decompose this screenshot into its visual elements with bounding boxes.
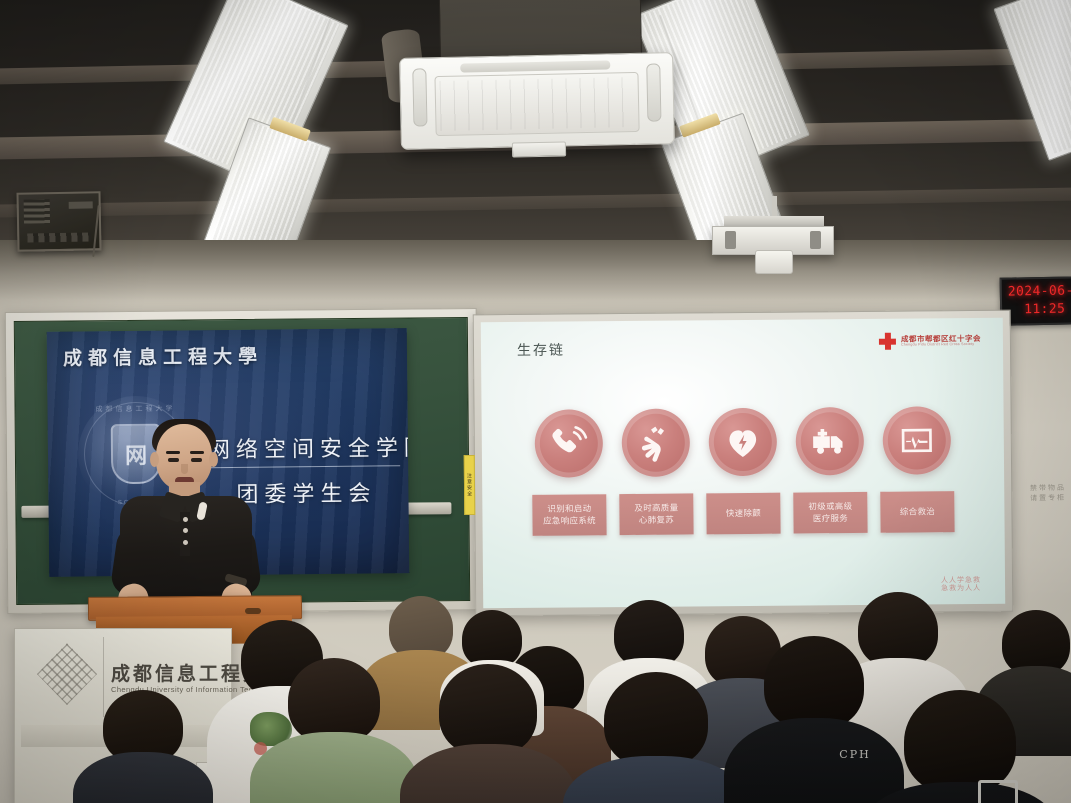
emblem-arc-top: 成都信息工程大学	[77, 403, 193, 414]
audience-member	[436, 664, 540, 803]
chain-step-label: 快速除颤	[706, 493, 780, 535]
heart-defib-icon	[709, 408, 778, 477]
audience-member	[285, 658, 383, 803]
chain-step-label: 综合救治	[880, 491, 954, 533]
wall-shadow	[0, 240, 1071, 300]
chain-step: 初级或高级医疗服务	[791, 407, 870, 534]
chain-step-label: 识别和启动应急响应系统	[532, 494, 606, 536]
clock-date: 2024-06-	[1008, 283, 1071, 299]
projector-lens	[755, 250, 793, 274]
wall-control-panel[interactable]	[16, 191, 101, 251]
red-cross-icon	[879, 333, 896, 350]
wall-sign-line1: 禁带物品	[1027, 484, 1069, 492]
chain-step: 综合救治	[878, 406, 957, 533]
ceiling	[0, 0, 1071, 262]
ecg-monitor-icon	[883, 406, 952, 475]
slide-title: 生存链	[517, 340, 565, 360]
hands-cpr-icon	[622, 408, 691, 477]
audience-member	[760, 636, 868, 803]
podium-pattern-icon	[37, 643, 97, 705]
projection-screen: 生存链 成都市郫都区红十字会 Chengdu Pidu District Red…	[481, 318, 1005, 609]
warning-sticker: 注意安全	[464, 455, 476, 515]
clock-time: 11:25	[1024, 302, 1065, 318]
audience-member	[600, 672, 712, 803]
chain-step-label: 初级或高级医疗服务	[793, 492, 867, 534]
wall-sign-line2: 请置专柜	[1027, 494, 1069, 502]
ceiling-cassette-ac-icon	[399, 52, 675, 150]
shirt-print-text: CPH	[839, 748, 870, 761]
phone-call-icon	[535, 409, 604, 478]
chain-of-survival: 识别和启动应急响应系统 及时高质量心肺复苏 快速除颤	[482, 406, 1005, 537]
chain-step: 及时高质量心肺复苏	[617, 408, 696, 535]
chain-step: 识别和启动应急响应系统	[530, 409, 609, 536]
chain-step: 快速除颤	[704, 408, 783, 535]
screenshot-root: 2024-06- 11:25 禁带物品 请置专柜 成都信息工程大學 成都信息工程…	[0, 0, 1071, 803]
logo-text-en: Chengdu Pidu District Red Cross Society	[901, 342, 981, 346]
red-cross-logo: 成都市郫都区红十字会 Chengdu Pidu District Red Cro…	[879, 332, 981, 350]
audience-member	[100, 690, 186, 803]
wall-notice-sign: 禁带物品 请置专柜	[1027, 476, 1070, 511]
slogan-line2: 急救为人人	[941, 585, 981, 594]
backpack-buckle-icon	[978, 780, 1018, 803]
ceiling-beam	[0, 187, 1071, 218]
chain-step-label: 及时高质量心肺复苏	[619, 493, 693, 535]
banner-university-name: 成都信息工程大學	[63, 340, 397, 370]
lectern-knob	[245, 608, 261, 614]
projection-screen-frame: 生存链 成都市郫都区红十字会 Chengdu Pidu District Red…	[473, 310, 1014, 617]
slide-footer-slogan: 人人学急救 急救为人人	[941, 576, 981, 594]
ambulance-icon	[796, 407, 865, 476]
